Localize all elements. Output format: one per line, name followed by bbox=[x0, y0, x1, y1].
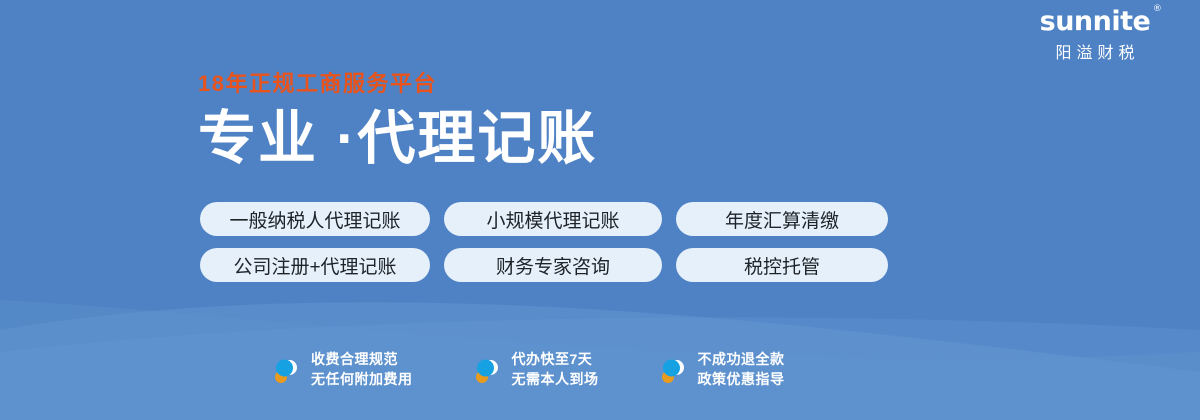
split-circle-icon bbox=[272, 355, 302, 385]
service-pill-general-taxpayer[interactable]: 一般纳税人代理记账 bbox=[200, 202, 430, 236]
page-title: 专业 ·代理记账 bbox=[198, 106, 597, 173]
feature-line-2: 无任何附加费用 bbox=[311, 370, 413, 390]
service-pill-row: 公司注册+代理记账 财务专家咨询 税控托管 bbox=[200, 248, 888, 282]
split-circle-icon bbox=[473, 355, 503, 385]
logo-wordmark: sunnite ® bbox=[1040, 8, 1151, 36]
feature-line-2: 无需本人到场 bbox=[512, 370, 599, 390]
brand-logo: sunnite ® 阳溢财税 bbox=[1010, 8, 1180, 63]
service-pill-annual-settlement[interactable]: 年度汇算清缴 bbox=[676, 202, 888, 236]
headline-block: 18年正规工商服务平台 专业 ·代理记账 bbox=[198, 72, 597, 173]
feature-strip: 收费合理规范 无任何附加费用 代办快至7天 无需本人到场 不成功退全款 bbox=[272, 350, 785, 390]
service-pill-tax-control-hosting[interactable]: 税控托管 bbox=[676, 248, 888, 282]
feature-text-guarantee: 不成功退全款 政策优惠指导 bbox=[698, 350, 785, 390]
logo-subtitle: 阳溢财税 bbox=[1010, 39, 1180, 63]
service-pill-row: 一般纳税人代理记账 小规模代理记账 年度汇算清缴 bbox=[200, 202, 888, 236]
logo-wordmark-text: sunnite bbox=[1040, 6, 1151, 37]
feature-line-1: 收费合理规范 bbox=[311, 350, 413, 370]
feature-line-2: 政策优惠指导 bbox=[698, 370, 785, 390]
feature-item-guarantee: 不成功退全款 政策优惠指导 bbox=[659, 350, 785, 390]
feature-line-1: 不成功退全款 bbox=[698, 350, 785, 370]
service-pill-small-scale[interactable]: 小规模代理记账 bbox=[444, 202, 662, 236]
promo-banner: sunnite ® 阳溢财税 18年正规工商服务平台 专业 ·代理记账 一般纳税… bbox=[0, 0, 1200, 420]
service-pill-expert-consulting[interactable]: 财务专家咨询 bbox=[444, 248, 662, 282]
registered-trademark-icon: ® bbox=[1153, 5, 1162, 14]
split-circle-icon bbox=[659, 355, 689, 385]
eyebrow-text: 18年正规工商服务平台 bbox=[198, 72, 597, 96]
feature-line-1: 代办快至7天 bbox=[512, 350, 599, 370]
feature-text-pricing: 收费合理规范 无任何附加费用 bbox=[311, 350, 413, 390]
service-pill-grid: 一般纳税人代理记账 小规模代理记账 年度汇算清缴 公司注册+代理记账 财务专家咨… bbox=[200, 202, 888, 282]
feature-item-speed: 代办快至7天 无需本人到场 bbox=[473, 350, 599, 390]
feature-text-speed: 代办快至7天 无需本人到场 bbox=[512, 350, 599, 390]
service-pill-company-registration[interactable]: 公司注册+代理记账 bbox=[200, 248, 430, 282]
feature-item-pricing: 收费合理规范 无任何附加费用 bbox=[272, 350, 413, 390]
